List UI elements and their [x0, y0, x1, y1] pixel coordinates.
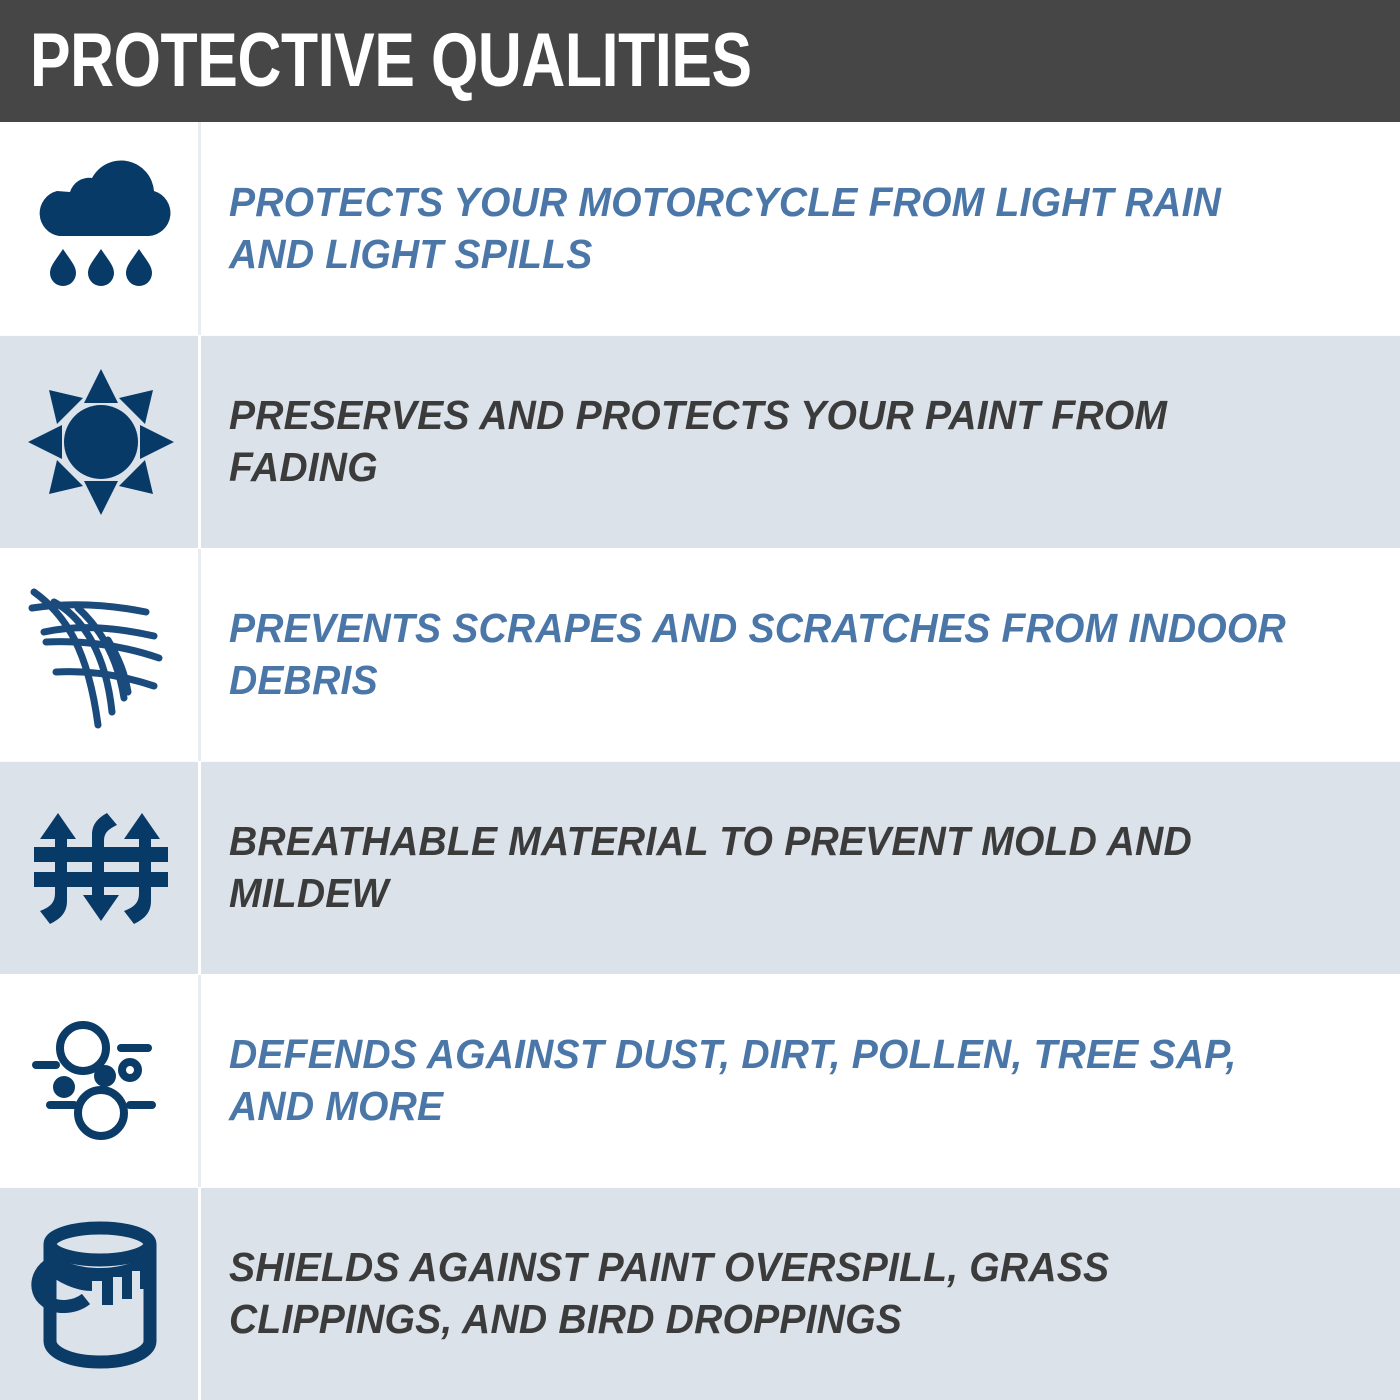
icon-cell	[0, 974, 201, 1187]
feature-text: DEFENDS AGAINST DUST, DIRT, POLLEN, TREE…	[229, 1029, 1301, 1133]
protective-qualities-infographic: PROTECTIVE QUALITIES PROTECTS YOUR MOTOR…	[0, 0, 1400, 1400]
icon-cell	[0, 122, 201, 335]
scratches-icon	[26, 580, 176, 730]
breathable-airflow-icon	[26, 793, 176, 943]
text-cell: PROTECTS YOUR MOTORCYCLE FROM LIGHT RAIN…	[201, 122, 1400, 335]
icon-cell	[0, 1187, 201, 1400]
feature-row: PREVENTS SCRAPES AND SCRATCHES FROM INDO…	[0, 548, 1400, 761]
paint-can-icon	[28, 1219, 173, 1369]
text-cell: SHIELDS AGAINST PAINT OVERSPILL, GRASS C…	[201, 1187, 1400, 1400]
page-title: PROTECTIVE QUALITIES	[30, 25, 752, 97]
feature-text: SHIELDS AGAINST PAINT OVERSPILL, GRASS C…	[229, 1242, 1301, 1346]
feature-text: PROTECTS YOUR MOTORCYCLE FROM LIGHT RAIN…	[229, 177, 1301, 281]
feature-row: PRESERVES AND PROTECTS YOUR PAINT FROM F…	[0, 335, 1400, 548]
text-cell: BREATHABLE MATERIAL TO PREVENT MOLD AND …	[201, 761, 1400, 974]
dust-particles-icon	[26, 1013, 176, 1148]
feature-row: SHIELDS AGAINST PAINT OVERSPILL, GRASS C…	[0, 1187, 1400, 1400]
text-cell: PREVENTS SCRAPES AND SCRATCHES FROM INDO…	[201, 548, 1400, 761]
text-cell: DEFENDS AGAINST DUST, DIRT, POLLEN, TREE…	[201, 974, 1400, 1187]
icon-cell	[0, 761, 201, 974]
feature-text: BREATHABLE MATERIAL TO PREVENT MOLD AND …	[229, 816, 1301, 920]
feature-row: BREATHABLE MATERIAL TO PREVENT MOLD AND …	[0, 761, 1400, 974]
feature-row: DEFENDS AGAINST DUST, DIRT, POLLEN, TREE…	[0, 974, 1400, 1187]
header-bar: PROTECTIVE QUALITIES	[0, 0, 1400, 122]
sun-icon	[26, 367, 176, 517]
text-cell: PRESERVES AND PROTECTS YOUR PAINT FROM F…	[201, 335, 1400, 548]
feature-row: PROTECTS YOUR MOTORCYCLE FROM LIGHT RAIN…	[0, 122, 1400, 335]
feature-text: PREVENTS SCRAPES AND SCRATCHES FROM INDO…	[229, 603, 1301, 707]
rain-cloud-icon	[26, 156, 176, 301]
feature-list: PROTECTS YOUR MOTORCYCLE FROM LIGHT RAIN…	[0, 122, 1400, 1400]
icon-cell	[0, 548, 201, 761]
feature-text: PRESERVES AND PROTECTS YOUR PAINT FROM F…	[229, 390, 1301, 494]
icon-cell	[0, 335, 201, 548]
